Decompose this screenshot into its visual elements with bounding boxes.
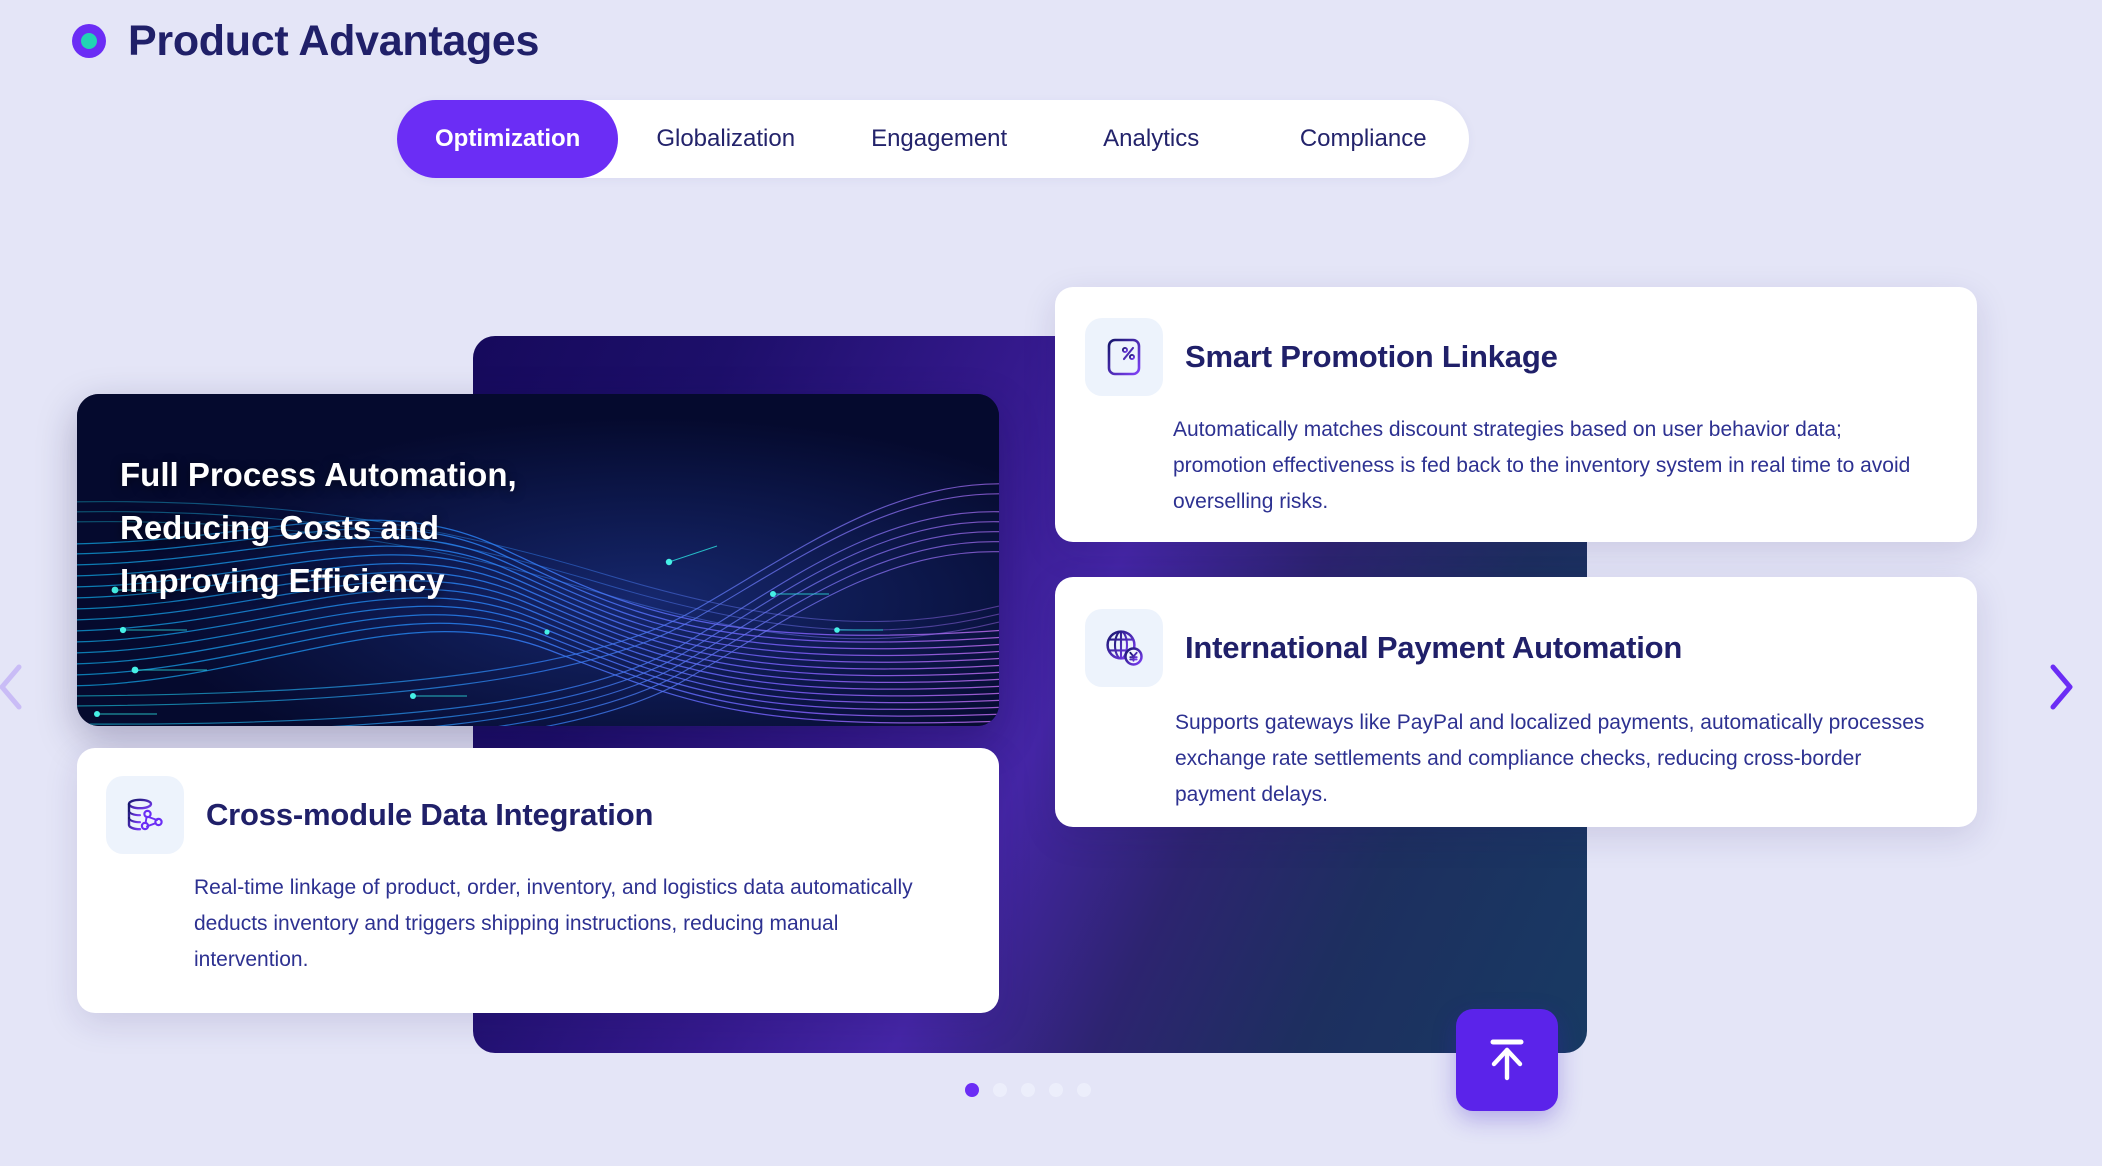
page-root: Product Advantages Optimization Globaliz… [0,0,2102,1166]
carousel-dot-5[interactable] [1077,1083,1091,1097]
carousel-dot-1[interactable] [965,1083,979,1097]
feature-card-international-payment-automation[interactable]: International Payment Automation Support… [1055,577,1977,827]
card-header: Smart Promotion Linkage [1055,287,1977,396]
carousel-dot-4[interactable] [1049,1083,1063,1097]
ring-dot-icon [72,24,106,58]
globe-currency-icon [1085,609,1163,687]
card-title: Smart Promotion Linkage [1185,339,1558,375]
carousel-next-button[interactable] [2034,650,2088,724]
carousel-prev-button[interactable] [0,650,38,724]
arrow-up-to-line-icon [1480,1033,1534,1087]
carousel-dot-3[interactable] [1021,1083,1035,1097]
card-title: International Payment Automation [1185,630,1682,666]
card-description: Supports gateways like PayPal and locali… [1055,687,1977,813]
chevron-left-icon [0,661,28,713]
card-description: Automatically matches discount strategie… [1055,396,1977,520]
tab-engagement[interactable]: Engagement [833,100,1045,178]
chevron-right-icon [2044,661,2078,713]
section-heading: Product Advantages [72,10,539,72]
tab-bar: Optimization Globalization Engagement An… [397,100,1469,178]
tab-compliance[interactable]: Compliance [1257,100,1469,178]
tab-analytics[interactable]: Analytics [1045,100,1257,178]
tab-optimization[interactable]: Optimization [397,100,618,178]
carousel-pagination [965,1083,1091,1097]
chart-percent-icon [1085,318,1163,396]
database-network-icon [106,776,184,854]
tab-globalization[interactable]: Globalization [618,100,833,178]
hero-title: Full Process Automation, Reducing Costs … [120,448,680,607]
page-title: Product Advantages [128,17,539,66]
card-header: Cross-module Data Integration [77,748,999,854]
card-title: Cross-module Data Integration [206,797,653,833]
card-header: International Payment Automation [1055,577,1977,687]
card-description: Real-time linkage of product, order, inv… [77,854,999,978]
feature-card-smart-promotion-linkage[interactable]: Smart Promotion Linkage Automatically ma… [1055,287,1977,542]
hero-slide-card[interactable]: Full Process Automation, Reducing Costs … [77,394,999,726]
carousel-dot-2[interactable] [993,1083,1007,1097]
feature-card-cross-module-data-integration[interactable]: Cross-module Data Integration Real-time … [77,748,999,1013]
back-to-top-button[interactable] [1456,1009,1558,1111]
